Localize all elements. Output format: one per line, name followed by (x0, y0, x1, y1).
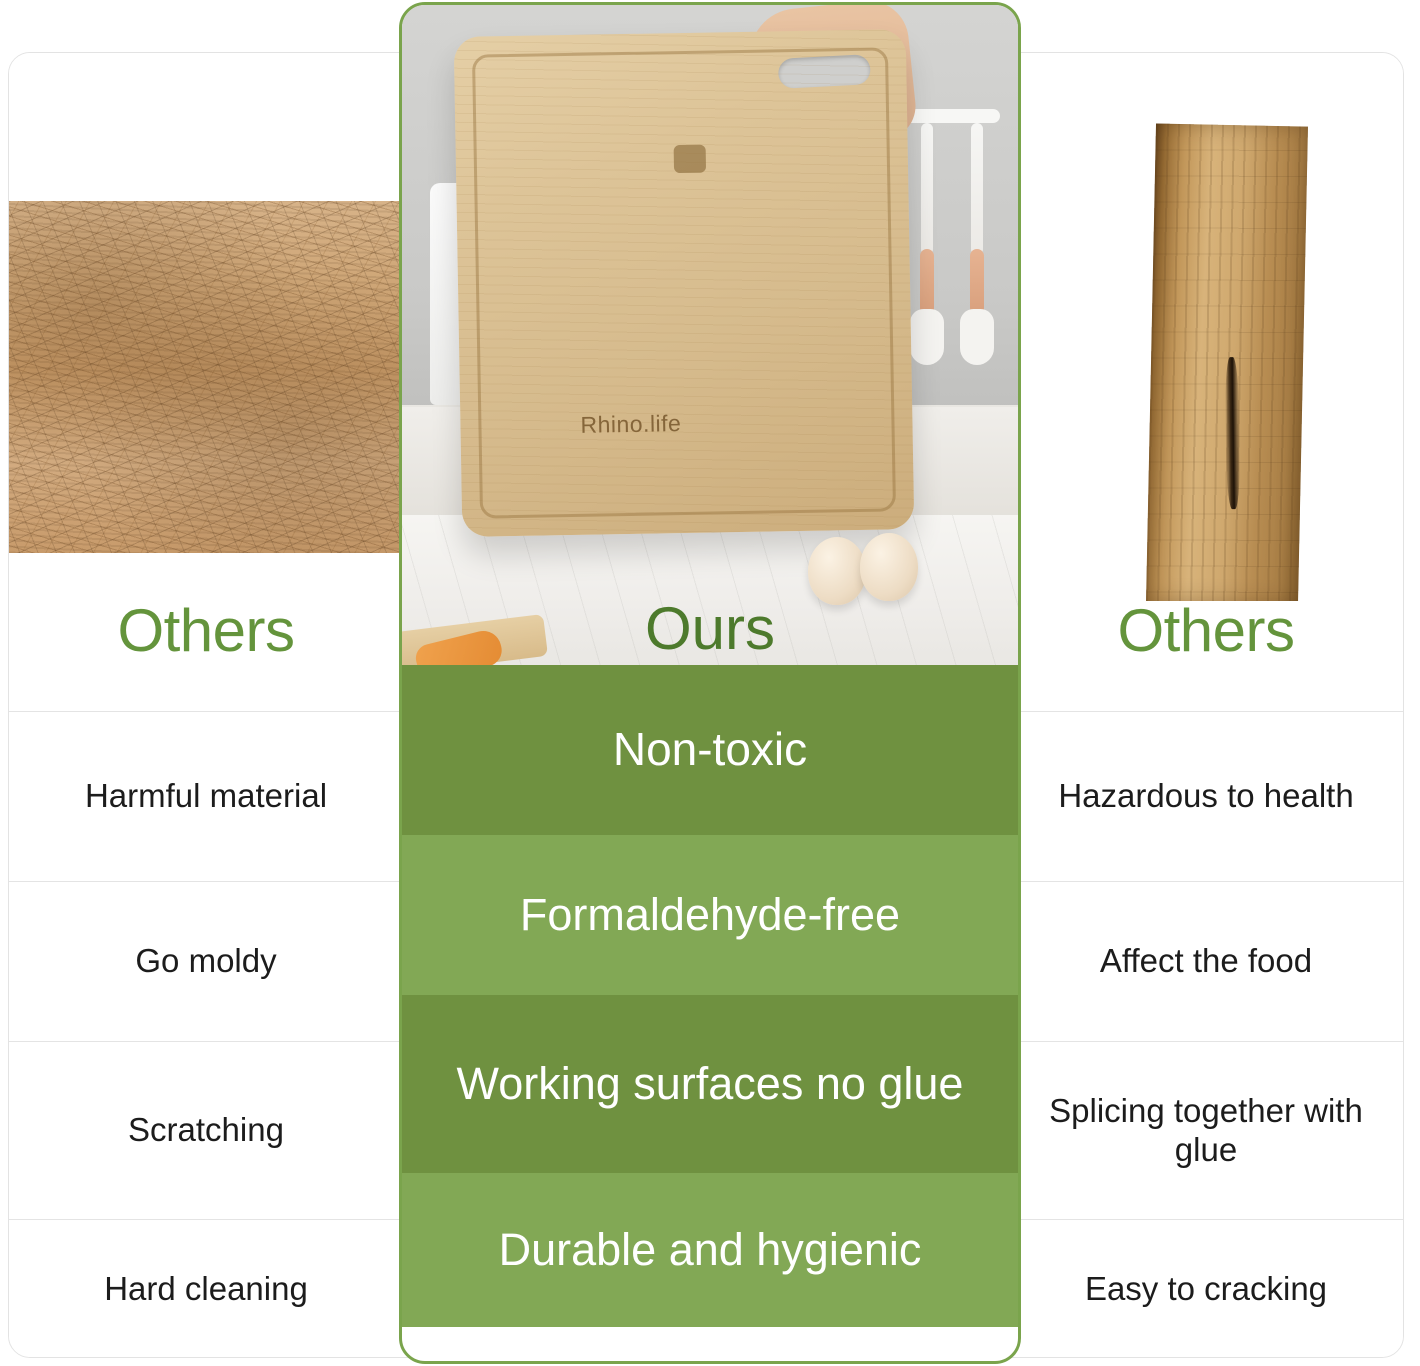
column-others-left: Others Harmful material Go moldy Scratch… (9, 53, 403, 1357)
scratched-board-image (9, 53, 403, 601)
table-row: Hard cleaning (9, 1219, 403, 1358)
ours-feature-rows: Non-toxic Formaldehyde-free Working surf… (402, 665, 1018, 1327)
ours-product-photo: Rhino.life Ours (402, 5, 1018, 665)
egg-icon (808, 537, 866, 605)
cracked-bamboo-image (1009, 53, 1403, 601)
scratched-board-texture (9, 201, 403, 553)
column-ours: Rhino.life Ours Non-toxic Formaldehyde-f… (399, 2, 1021, 1364)
table-row: Easy to cracking (1009, 1219, 1403, 1358)
table-row: Splicing together with glue (1009, 1041, 1403, 1219)
table-row: Hazardous to health (1009, 711, 1403, 881)
table-row: Scratching (9, 1041, 403, 1219)
board-logo-icon (674, 145, 706, 174)
column-label-others-left: Others (9, 601, 403, 661)
product-comparison-graphic: Others Harmful material Go moldy Scratch… (0, 0, 1420, 1366)
table-row: Durable and hygienic (402, 1173, 1018, 1327)
table-row: Working surfaces no glue (402, 995, 1018, 1173)
column-label-ours: Ours (402, 599, 1018, 659)
table-row: Go moldy (9, 881, 403, 1041)
column-label-others-right: Others (1009, 601, 1403, 661)
eggs-group (808, 533, 940, 599)
table-row: Formaldehyde-free (402, 835, 1018, 995)
bamboo-cutting-board: Rhino.life (454, 29, 915, 537)
table-row: Harmful material (9, 711, 403, 881)
cracked-bamboo-texture (1146, 123, 1308, 601)
column-others-right: Others Hazardous to health Affect the fo… (1009, 53, 1403, 1357)
table-row: Non-toxic (402, 665, 1018, 835)
board-handle-hole (778, 54, 871, 89)
right-feature-rows: Hazardous to health Affect the food Spli… (1009, 711, 1403, 1358)
left-feature-rows: Harmful material Go moldy Scratching Har… (9, 711, 403, 1358)
brand-name: Rhino.life (580, 410, 681, 439)
egg-icon (860, 533, 918, 601)
table-row: Affect the food (1009, 881, 1403, 1041)
